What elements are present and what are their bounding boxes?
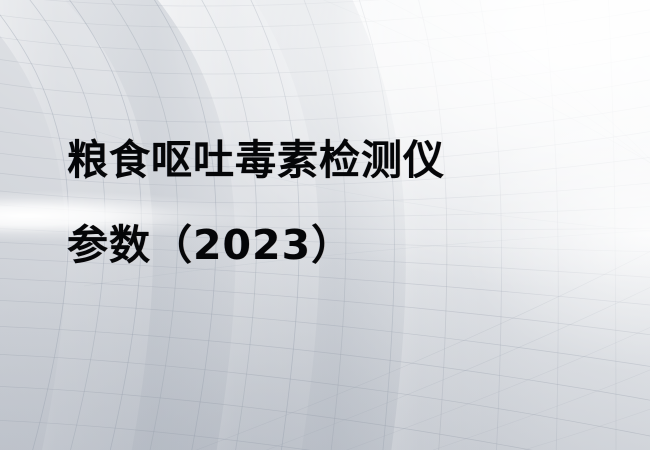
title-banner: 粮食呕吐毒素检测仪 参数（2023） (0, 0, 650, 450)
headline-line-1: 粮食呕吐毒素检测仪 (67, 118, 607, 203)
headline-line-2: 参数（2023） (67, 203, 607, 288)
headline-block: 粮食呕吐毒素检测仪 参数（2023） (67, 118, 607, 288)
